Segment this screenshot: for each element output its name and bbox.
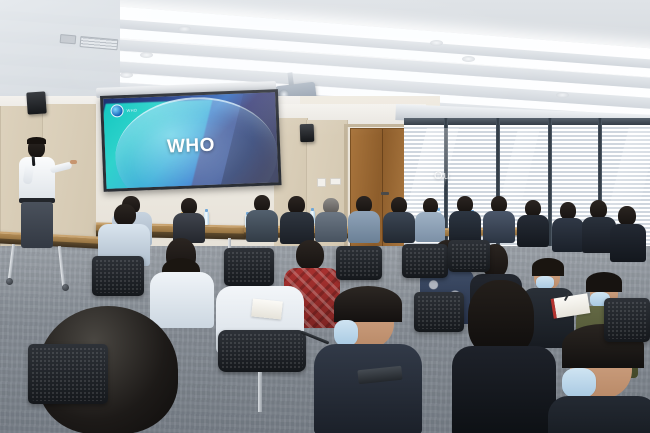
chair-mid-4[interactable] bbox=[402, 244, 448, 278]
chair-foreground-left[interactable] bbox=[28, 344, 108, 404]
chair-right-edge[interactable] bbox=[604, 298, 650, 342]
attendee-torso bbox=[517, 215, 549, 247]
table-front-left-caster-2 bbox=[62, 284, 69, 291]
attendee-torso bbox=[315, 212, 347, 242]
attendee-torso bbox=[415, 212, 445, 242]
presenter-hand bbox=[70, 160, 77, 164]
attendee-head bbox=[114, 204, 136, 226]
face-mask-icon bbox=[334, 320, 358, 346]
chair-foreground-center-post bbox=[258, 372, 262, 412]
glass-etched-text: Ou bbox=[434, 170, 451, 182]
face-mask-icon bbox=[562, 368, 596, 398]
chair-mesh-back bbox=[227, 251, 271, 283]
chair-mesh-back bbox=[405, 247, 445, 275]
table-front-left-caster-1 bbox=[6, 278, 13, 285]
attendee-hair bbox=[586, 272, 622, 292]
presenter-trousers bbox=[21, 202, 53, 248]
attendee-head-curly bbox=[296, 240, 324, 270]
ceiling-downlight-3 bbox=[120, 72, 133, 78]
chair-mesh-back bbox=[31, 347, 105, 401]
attendee-torso bbox=[246, 210, 278, 242]
chair-foreground-center[interactable] bbox=[218, 330, 306, 372]
attendee-torso bbox=[483, 211, 515, 243]
glass-head-rail bbox=[404, 118, 650, 125]
ceiling-downlight-5 bbox=[430, 40, 443, 46]
chair-mesh-back bbox=[339, 249, 379, 277]
slide-logo-text: WHO bbox=[126, 108, 137, 113]
globe-logo-icon bbox=[110, 104, 123, 117]
chair-mid-2[interactable] bbox=[224, 248, 274, 286]
attendee-torso bbox=[552, 218, 584, 252]
conference-room-photo: WHO WHO Ou bbox=[0, 0, 650, 433]
attendee-blouse bbox=[150, 272, 214, 328]
chair-mesh-back bbox=[221, 333, 303, 369]
chair-mid-3[interactable] bbox=[336, 246, 382, 280]
ceiling-downlight-1 bbox=[178, 26, 191, 32]
ceiling-downlight-7 bbox=[556, 92, 569, 98]
wall-speaker-center bbox=[300, 124, 315, 142]
attendee-head bbox=[468, 280, 534, 356]
ceiling-downlight-6 bbox=[462, 56, 475, 62]
chair-foreground-right[interactable] bbox=[414, 292, 464, 332]
chair-mid-1[interactable] bbox=[92, 256, 144, 296]
attendee-head bbox=[618, 206, 636, 226]
door-handle[interactable] bbox=[381, 192, 389, 195]
presenter bbox=[6, 138, 76, 248]
attendee-navy-jacket bbox=[314, 344, 422, 433]
chair-mesh-back bbox=[417, 295, 461, 329]
projection-screen: WHO WHO bbox=[100, 89, 282, 192]
wall-control-plate-2[interactable] bbox=[330, 178, 341, 185]
attendee-torso bbox=[449, 211, 481, 243]
wall-speaker-left bbox=[26, 91, 46, 114]
chair-mesh-back bbox=[607, 301, 647, 339]
handheld-microphone[interactable] bbox=[32, 156, 36, 166]
attendee-torso bbox=[548, 396, 650, 433]
chair-mesh-back bbox=[95, 259, 141, 293]
handout-paper bbox=[251, 298, 283, 319]
attendee-torso bbox=[348, 211, 380, 243]
attendee-torso bbox=[610, 224, 646, 262]
chair-mesh-back bbox=[451, 243, 487, 269]
slide-logo: WHO bbox=[110, 104, 137, 118]
ceiling-downlight-2 bbox=[140, 52, 153, 58]
attendee-hair bbox=[532, 258, 564, 276]
chair-mid-5[interactable] bbox=[448, 240, 490, 272]
attendee-torso bbox=[383, 212, 415, 243]
presenter-hair bbox=[27, 137, 46, 144]
wall-control-plate-1[interactable] bbox=[317, 178, 326, 187]
attendee-black-coat bbox=[452, 346, 556, 433]
ceiling-air-diffuser-2 bbox=[60, 34, 77, 44]
attendee-hair bbox=[334, 286, 402, 322]
